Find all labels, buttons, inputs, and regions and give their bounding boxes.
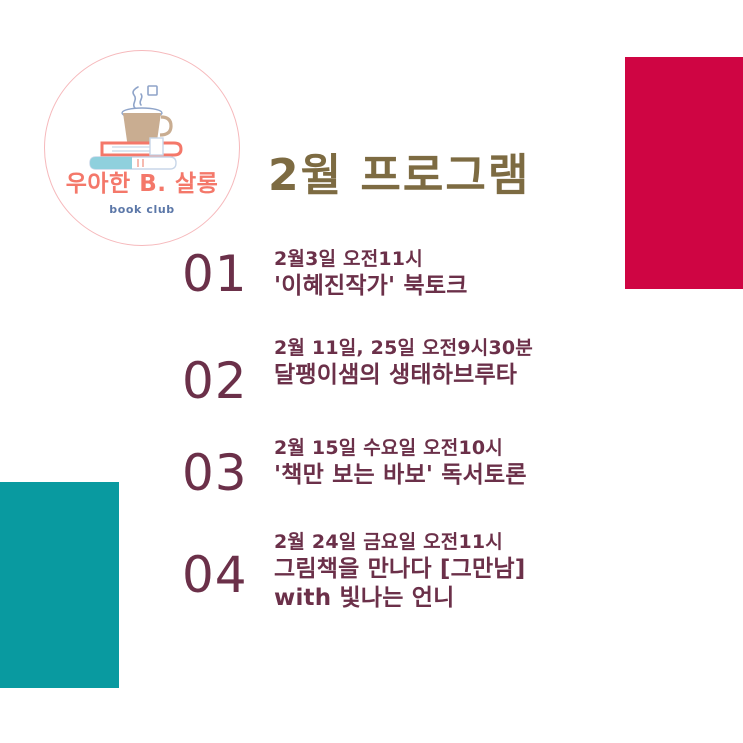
item-number: 03: [182, 432, 274, 498]
page-title: 2월 프로그램: [268, 139, 530, 203]
item-number: 04: [182, 526, 274, 600]
item-content: 2월 24일 금요일 오전11시 그림책을 만나다 [그만남] with 빛나는…: [274, 526, 662, 614]
list-item: 03 2월 15일 수요일 오전10시 '책만 보는 바보' 독서토론: [182, 432, 662, 498]
item-content: 2월3일 오전11시 '이혜진작가' 북토크: [274, 243, 662, 302]
item-number: 02: [182, 332, 274, 406]
book-club-logo-badge: 우아한 B. 살롱 book club: [44, 50, 240, 246]
item-title: 달팽이샘의 생태하브루타: [274, 361, 662, 390]
item-content: 2월 15일 수요일 오전10시 '책만 보는 바보' 독서토론: [274, 432, 662, 491]
item-date: 2월 15일 수요일 오전10시: [274, 436, 662, 461]
logo-subtitle-text: book club: [45, 203, 239, 216]
item-title: '이혜진작가' 북토크: [274, 272, 662, 301]
list-item: 01 2월3일 오전11시 '이혜진작가' 북토크: [182, 243, 662, 302]
item-number: 01: [182, 243, 274, 299]
item-date: 2월3일 오전11시: [274, 247, 662, 272]
item-title-second-line: with 빛나는 언니: [274, 584, 662, 613]
teal-accent-block: [0, 482, 119, 688]
item-date: 2월 24일 금요일 오전11시: [274, 530, 662, 555]
list-item: 02 2월 11일, 25일 오전9시30분 달팽이샘의 생태하브루타: [182, 332, 662, 406]
poster-canvas: 우아한 B. 살롱 book club 2월 프로그램 01 2월3일 오전11…: [0, 0, 743, 743]
item-title: '책만 보는 바보' 독서토론: [274, 461, 662, 490]
program-list: 01 2월3일 오전11시 '이혜진작가' 북토크 02 2월 11일, 25일…: [182, 243, 662, 635]
coffee-cup-on-books-icon: [86, 81, 198, 173]
item-title: 그림책을 만나다 [그만남]: [274, 555, 662, 584]
list-item: 04 2월 24일 금요일 오전11시 그림책을 만나다 [그만남] with …: [182, 526, 662, 614]
item-content: 2월 11일, 25일 오전9시30분 달팽이샘의 생태하브루타: [274, 332, 662, 391]
logo-name-text: 우아한 B. 살롱: [45, 164, 239, 198]
item-date: 2월 11일, 25일 오전9시30분: [274, 336, 662, 361]
